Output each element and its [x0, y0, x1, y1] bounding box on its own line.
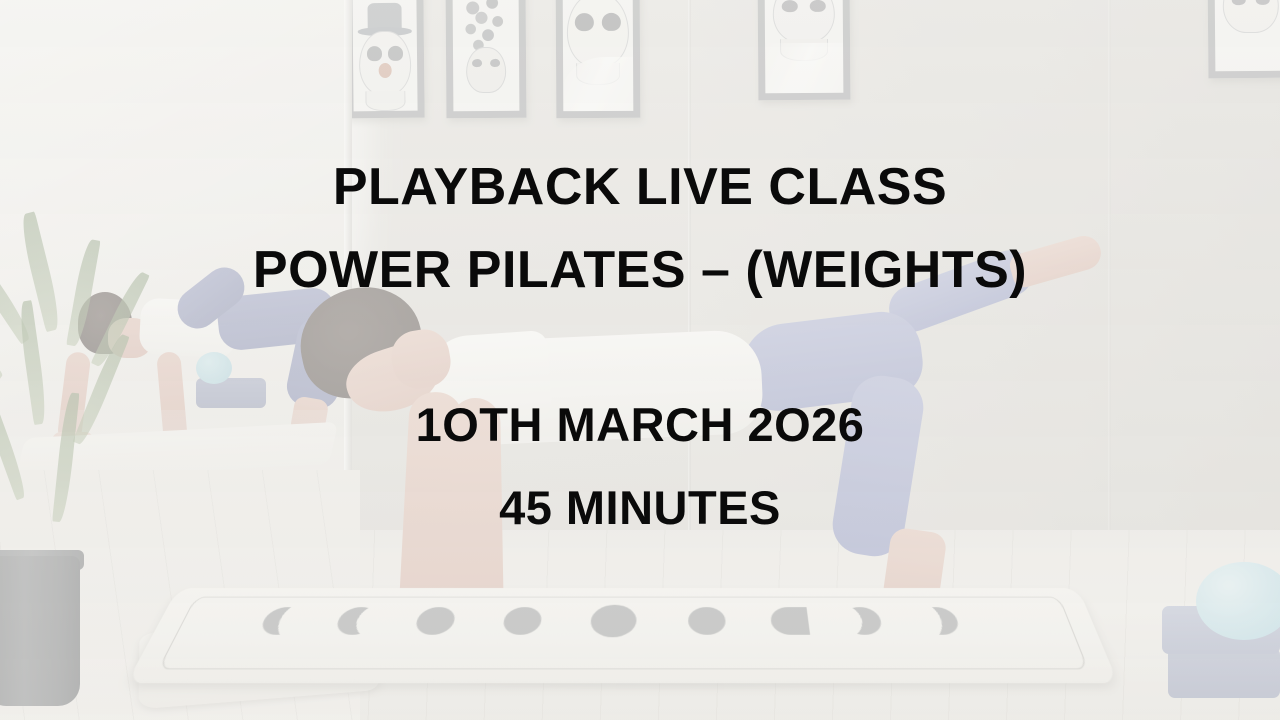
- yoga-mat: [127, 588, 1119, 683]
- studio-photo: [0, 0, 1280, 720]
- moon-phase-waning-gibbous: [688, 607, 726, 635]
- lifted-leg-foot: [1007, 232, 1105, 290]
- class-thumbnail: PLAYBACK LIVE CLASS POWER PILATES – (WEI…: [0, 0, 1280, 720]
- yoga-block-lower: [1168, 648, 1280, 698]
